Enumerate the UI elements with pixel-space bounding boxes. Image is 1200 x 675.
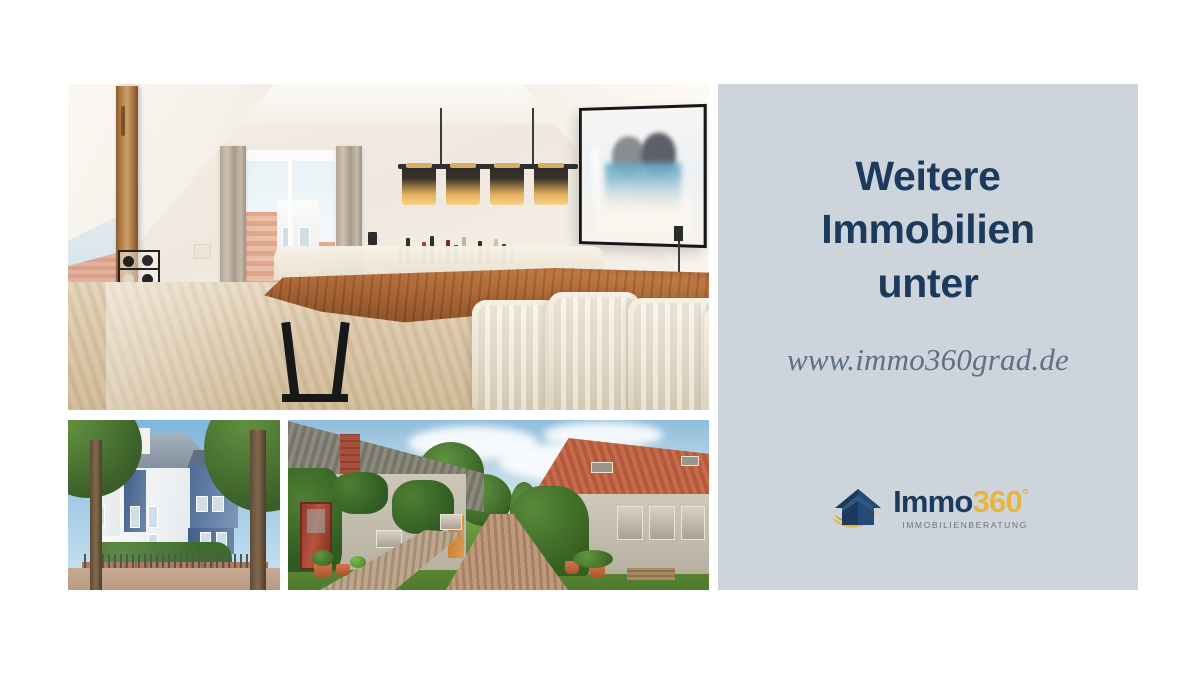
dining-chair <box>548 292 640 410</box>
dining-chair <box>628 298 709 410</box>
house-with-swoosh-logo-mark <box>828 484 884 532</box>
pendant-lamp <box>398 108 578 218</box>
artwork-glass-glare <box>591 147 599 218</box>
logo-degree-symbol: ° <box>1022 486 1028 505</box>
window <box>681 506 705 540</box>
photo-white-blue-villa <box>68 420 280 590</box>
dining-chair <box>704 306 709 410</box>
roof-dormer-window <box>591 462 613 473</box>
roof-dormer-window <box>681 456 699 466</box>
logo-word-immo: Immo <box>893 484 972 519</box>
photo-farmhouse-courtyard <box>288 420 709 590</box>
window <box>649 506 675 540</box>
tree-trunk-left <box>90 440 102 590</box>
headline-line-3: unter <box>821 257 1034 310</box>
lamp-shade <box>402 167 436 205</box>
window <box>376 530 402 548</box>
potted-plant <box>350 556 366 568</box>
wall-socket <box>368 232 377 245</box>
logo-wordmark: Immo360° <box>893 486 1028 517</box>
villa-window <box>148 506 158 528</box>
headline-line-2: Immobilien <box>821 203 1034 256</box>
tower-window <box>196 496 208 512</box>
wall-plate <box>194 244 211 259</box>
logo-word-360: 360 <box>973 484 1022 519</box>
tree-trunk-right <box>250 430 266 590</box>
lamp-shade <box>446 167 480 205</box>
villa-window <box>130 506 140 528</box>
lamp-shade <box>490 167 524 205</box>
ad-banner: Weitere Immobilien unter www.immo360grad… <box>0 0 1200 675</box>
info-panel: Weitere Immobilien unter www.immo360grad… <box>718 84 1138 590</box>
tower-window <box>212 496 224 512</box>
garden-bench <box>627 568 675 580</box>
headline-line-1: Weitere <box>821 150 1034 203</box>
table-leg-base <box>282 394 348 402</box>
website-url[interactable]: www.immo360grad.de <box>787 342 1069 378</box>
framed-artwork <box>579 104 707 248</box>
immo360-logo[interactable]: Immo360° IMMOBILIENBERATUNG <box>718 484 1138 532</box>
garden-plant <box>573 550 613 568</box>
artwork-canvas <box>582 107 704 245</box>
wall-socket <box>674 226 683 241</box>
window <box>617 506 643 540</box>
logo-text: Immo360° IMMOBILIENBERATUNG <box>893 486 1028 530</box>
potted-plant <box>312 550 334 566</box>
photo-attic-dining-room <box>68 84 709 410</box>
lamp-shade <box>534 167 568 205</box>
window <box>440 514 462 530</box>
page-title: Weitere Immobilien unter <box>821 150 1034 310</box>
dining-chair <box>472 300 560 410</box>
ivy-growth <box>332 472 388 514</box>
logo-tagline: IMMOBILIENBERATUNG <box>893 520 1028 530</box>
flower-pot <box>336 564 350 576</box>
